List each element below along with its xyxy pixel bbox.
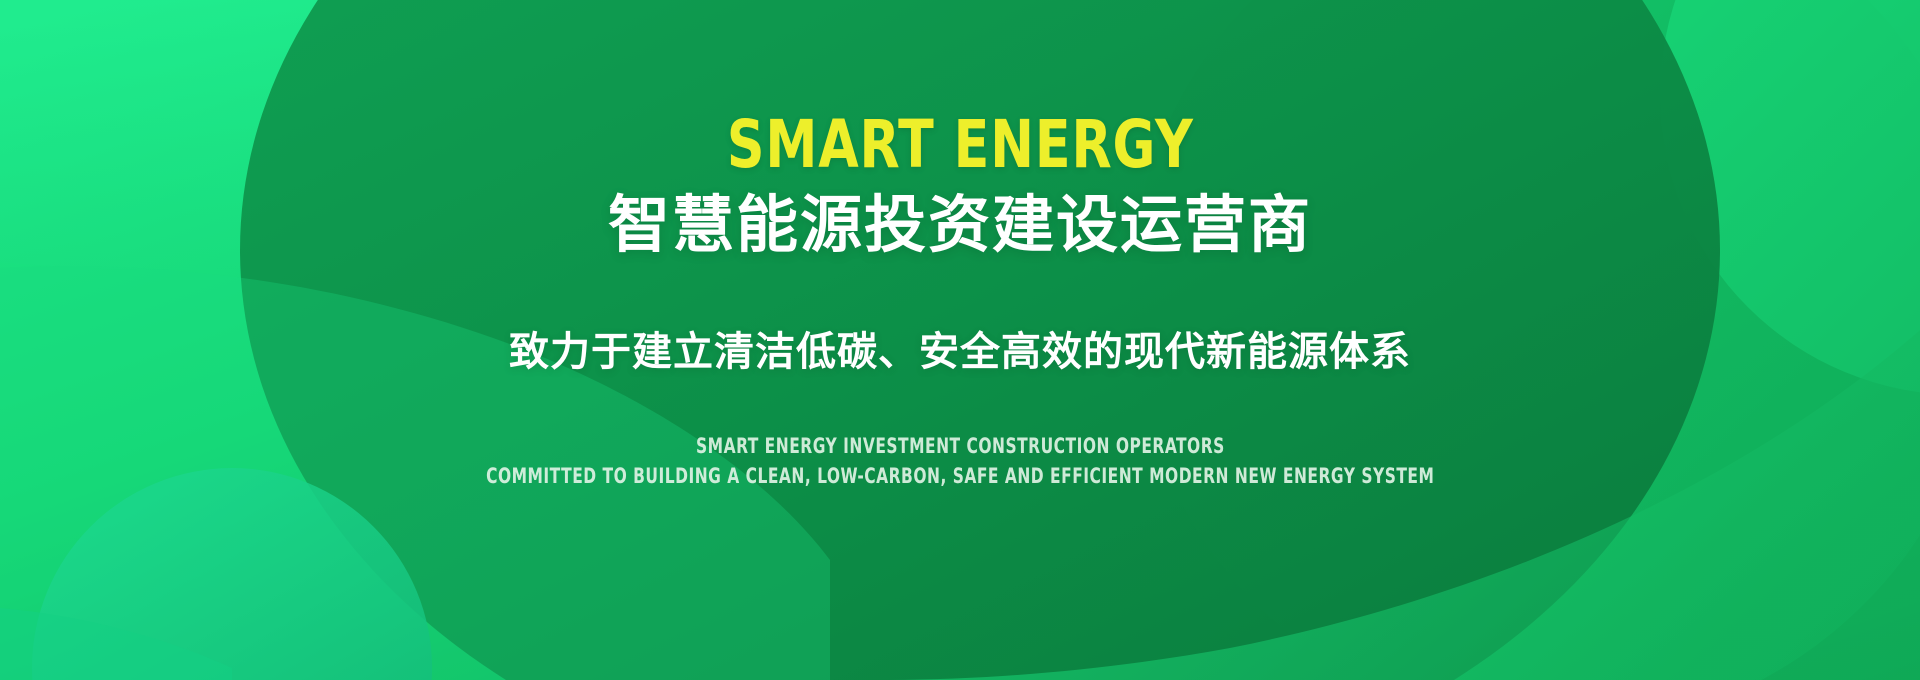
banner-tagline-english-line1: SMART ENERGY INVESTMENT CONSTRUCTION OPE… [696,434,1225,459]
banner-tagline-english-line2: COMMITTED TO BUILDING A CLEAN, LOW-CARBO… [486,464,1434,489]
banner-title-chinese: 智慧能源投资建设运营商 [608,192,1312,259]
banner-content: SMART ENERGY 智慧能源投资建设运营商 致力于建立清洁低碳、安全高效的… [0,0,1920,680]
banner-subtitle-chinese: 致力于建立清洁低碳、安全高效的现代新能源体系 [509,330,1411,374]
smart-energy-hero-banner: SMART ENERGY 智慧能源投资建设运营商 致力于建立清洁低碳、安全高效的… [0,0,1920,680]
banner-title-english: SMART ENERGY [727,112,1194,178]
